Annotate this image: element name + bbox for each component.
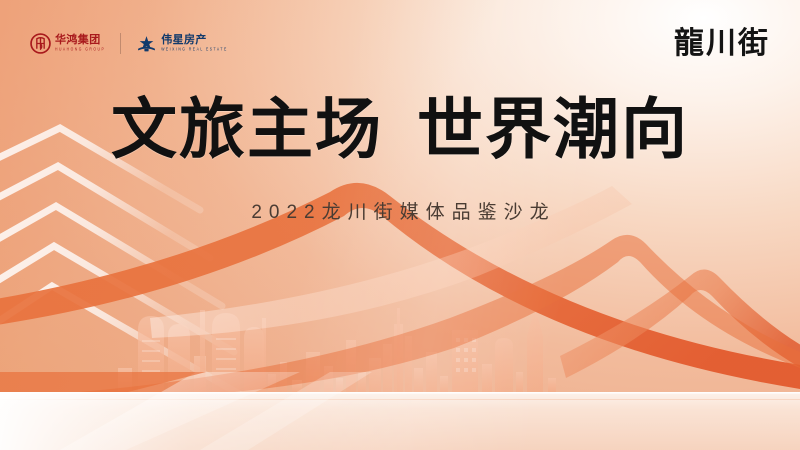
huahong-name-cn: 华鸿集团 [55,35,105,46]
poster-headline: 文旅主场世界潮向 [0,98,800,164]
weixing-name-cn: 伟星房产 [161,35,228,46]
logo-divider [120,33,121,54]
weixing-star-emblem-icon [136,33,157,54]
huahong-circle-emblem-icon [30,33,51,54]
poster-subtitle: 2022龙川街媒体品鉴沙龙 [0,197,800,224]
headline-part-2: 世界潮向 [417,94,689,167]
logo-weixing: 伟星房产 WEIXING REAL ESTATE [136,33,228,54]
brand-longchuanjie: 龍川街 [674,29,770,59]
logo-huahong: 华鸿集团 HUAHONG GROUP [30,33,105,54]
poster-canvas: 华鸿集团 HUAHONG GROUP 伟星房产 WEIXING REAL EST… [0,0,800,450]
huahong-logo-text: 华鸿集团 HUAHONG GROUP [55,35,105,52]
huahong-name-en: HUAHONG GROUP [55,48,105,52]
weixing-name-en: WEIXING REAL ESTATE [161,48,228,52]
headline-part-1: 文旅主场 [111,94,383,167]
logo-lockup: 华鸿集团 HUAHONG GROUP 伟星房产 WEIXING REAL EST… [30,33,228,54]
weixing-logo-text: 伟星房产 WEIXING REAL ESTATE [161,35,228,52]
poster-header: 华鸿集团 HUAHONG GROUP 伟星房产 WEIXING REAL EST… [0,0,800,96]
